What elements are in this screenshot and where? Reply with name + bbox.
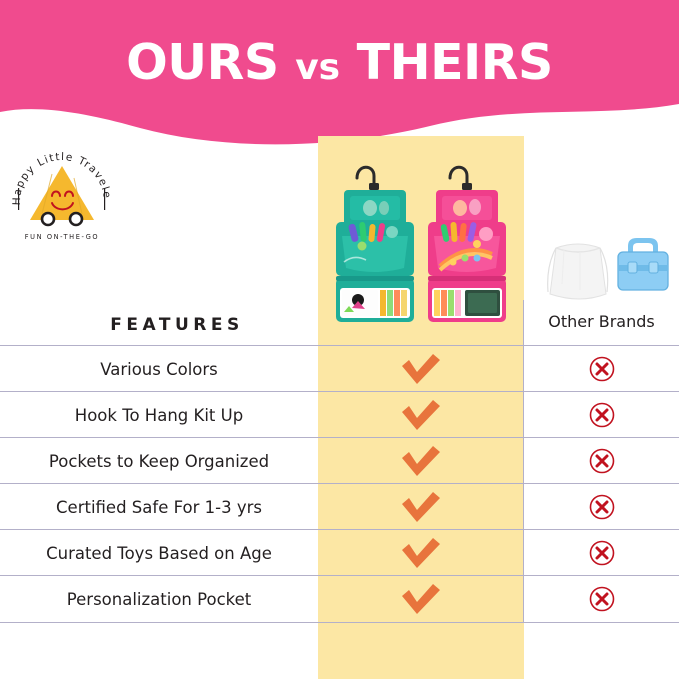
check-icon xyxy=(399,444,443,478)
ours-check-cell xyxy=(318,484,524,530)
cross-circle-icon xyxy=(588,585,616,613)
ours-check-cell xyxy=(318,530,524,576)
check-icon xyxy=(399,582,443,616)
page-title: OURS vs THEIRS xyxy=(0,34,679,97)
cross-circle-icon xyxy=(588,447,616,475)
theirs-cross-cell xyxy=(524,346,679,392)
check-icon xyxy=(399,398,443,432)
check-icon xyxy=(399,490,443,524)
table-row: Certified Safe For 1-3 yrs xyxy=(0,484,318,530)
cross-circle-icon xyxy=(588,401,616,429)
table-row: Curated Toys Based on Age xyxy=(0,530,318,576)
theirs-cross-cell xyxy=(524,484,679,530)
logo-wheel-right xyxy=(70,213,82,225)
check-icon xyxy=(399,352,443,386)
title-vs: vs xyxy=(295,47,340,88)
teal-hanging-travel-kit xyxy=(336,167,414,322)
table-row: Pockets to Keep Organized xyxy=(0,438,318,484)
cross-circle-icon xyxy=(588,539,616,567)
ours-check-cell xyxy=(318,346,524,392)
ours-check-cell xyxy=(318,392,524,438)
logo-tick-left xyxy=(18,188,19,210)
logo-triangle xyxy=(30,166,94,220)
table-row: Various Colors xyxy=(0,346,318,392)
title-ours: OURS xyxy=(126,34,278,91)
ours-check-cell xyxy=(318,576,524,622)
table-row: Personalization Pocket xyxy=(0,576,318,622)
theirs-cross-cell xyxy=(524,530,679,576)
logo-wheel-left xyxy=(42,213,54,225)
table-row: Hook To Hang Kit Up xyxy=(0,392,318,438)
theirs-cross-cell xyxy=(524,576,679,622)
logo-tick-right xyxy=(104,188,105,210)
theirs-cross-cell xyxy=(524,392,679,438)
other-brands-product-images xyxy=(540,232,670,310)
check-icon xyxy=(399,536,443,570)
cross-circle-icon xyxy=(588,493,616,521)
ours-check-cell xyxy=(318,438,524,484)
theirs-cross-cell xyxy=(524,438,679,484)
other-brands-column-header: Other Brands xyxy=(524,312,679,331)
blue-briefcase-icon xyxy=(618,238,668,290)
comparison-infographic: OURS vs THEIRS Happy Little Traveler xyxy=(0,0,679,679)
features-column-header: FEATURES xyxy=(42,302,312,348)
title-theirs: THEIRS xyxy=(357,34,553,91)
logo-tagline: FUN ON-THE-GO xyxy=(25,233,99,241)
ours-product-images xyxy=(322,150,520,342)
pink-hanging-travel-kit xyxy=(428,167,506,322)
table-rule-6 xyxy=(0,622,679,623)
cross-circle-icon xyxy=(588,355,616,383)
brand-logo: Happy Little Traveler FUN ON-THE-GO xyxy=(8,140,116,244)
white-drawstring-bag-icon xyxy=(548,244,608,299)
